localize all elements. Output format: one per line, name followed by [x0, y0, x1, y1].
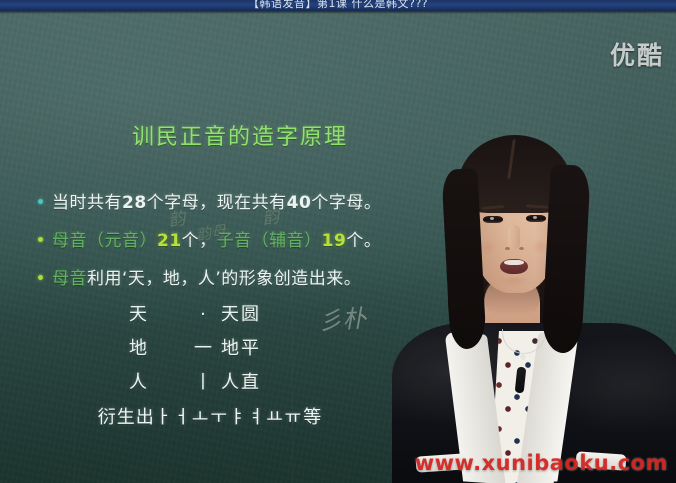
bullet-2-seg-5: 个。 — [346, 230, 381, 252]
eye-highlight-right — [533, 216, 537, 219]
bullet-dot-icon — [38, 199, 43, 204]
shape-row-sky: 天·天圆 — [0, 303, 420, 327]
bullet-item-3: 母音 利用‘天，地，人’的形象创造出来。 — [38, 268, 361, 290]
bullet-dot-icon — [38, 275, 43, 280]
bullet-1-seg-2: 个字母，现在共有 — [147, 192, 287, 214]
bullet-3-seg-1: 利用‘天，地，人’的形象创造出来。 — [87, 268, 361, 290]
necklace-pendant — [520, 354, 526, 360]
topbar-shadow — [0, 11, 676, 14]
shape-mark: · — [187, 303, 221, 327]
nose — [508, 225, 520, 249]
bullet-item-1: 当时共有 28 个字母，现在共有 40 个字母。 — [38, 192, 381, 214]
shape-row-human: 人丨人直 — [0, 371, 420, 395]
youku-logo-watermark: 优酷 — [610, 42, 664, 70]
bullet-1-seg-4: 个字母。 — [311, 192, 381, 214]
shape-concept: 天 — [129, 303, 187, 327]
bullet-item-2: 母音（元音） 21 个， 子音（辅音） 19 个。 — [38, 230, 381, 252]
teeth — [504, 260, 524, 265]
derive-suffix: 等 — [303, 407, 322, 428]
bullet-2-seg-2: 个， — [182, 230, 217, 252]
bullet-dot-icon — [38, 237, 43, 242]
bullet-2-seg-1: 21 — [157, 230, 182, 252]
bullet-3-seg-0: 母音 — [52, 268, 87, 290]
video-player-frame: 韵 韵 韵母 彡朴 训民正音的造字原理 当时共有 28 个字母，现在共有 40 … — [0, 0, 676, 483]
bullet-1-seg-3: 40 — [287, 192, 312, 214]
shape-concept: 人 — [129, 371, 187, 395]
bullet-1-seg-1: 28 — [122, 192, 147, 214]
bullet-1-seg-0: 当时共有 — [52, 192, 122, 214]
eye-highlight-left — [490, 217, 494, 220]
shape-row-earth: 地一地平 — [0, 337, 420, 361]
shape-mark: 丨 — [187, 371, 221, 395]
derive-prefix: 衍生出 — [98, 407, 155, 428]
nostril-left — [505, 247, 510, 250]
shape-meaning: 地平 — [221, 337, 291, 361]
bullet-2-seg-3: 子音（辅音） — [217, 230, 322, 252]
presenter-figure — [398, 11, 676, 483]
derived-vowels-line: 衍生出ㅏㅓㅗㅜㅑㅕㅛㅠ等 — [0, 406, 420, 430]
nostril-right — [519, 247, 524, 250]
lesson-title: 训民正音的造字原理 — [132, 124, 348, 152]
shape-mark: 一 — [187, 337, 221, 361]
bullet-2-seg-4: 19 — [322, 230, 347, 252]
site-url-watermark: www.xunibaoku.com — [415, 451, 668, 475]
shape-meaning: 人直 — [221, 371, 291, 395]
bullet-2-seg-0: 母音（元音） — [52, 230, 157, 252]
chin — [494, 277, 534, 291]
shape-concept: 地 — [129, 337, 187, 361]
shape-meaning: 天圆 — [221, 303, 291, 327]
player-title-text: 【韩语发音】第1课 什么是韩文??? — [0, 0, 676, 11]
player-title-bar: 【韩语发音】第1课 什么是韩文??? — [0, 0, 676, 11]
derive-jamo-list: ㅏㅓㅗㅜㅑㅕㅛㅠ — [155, 407, 303, 428]
